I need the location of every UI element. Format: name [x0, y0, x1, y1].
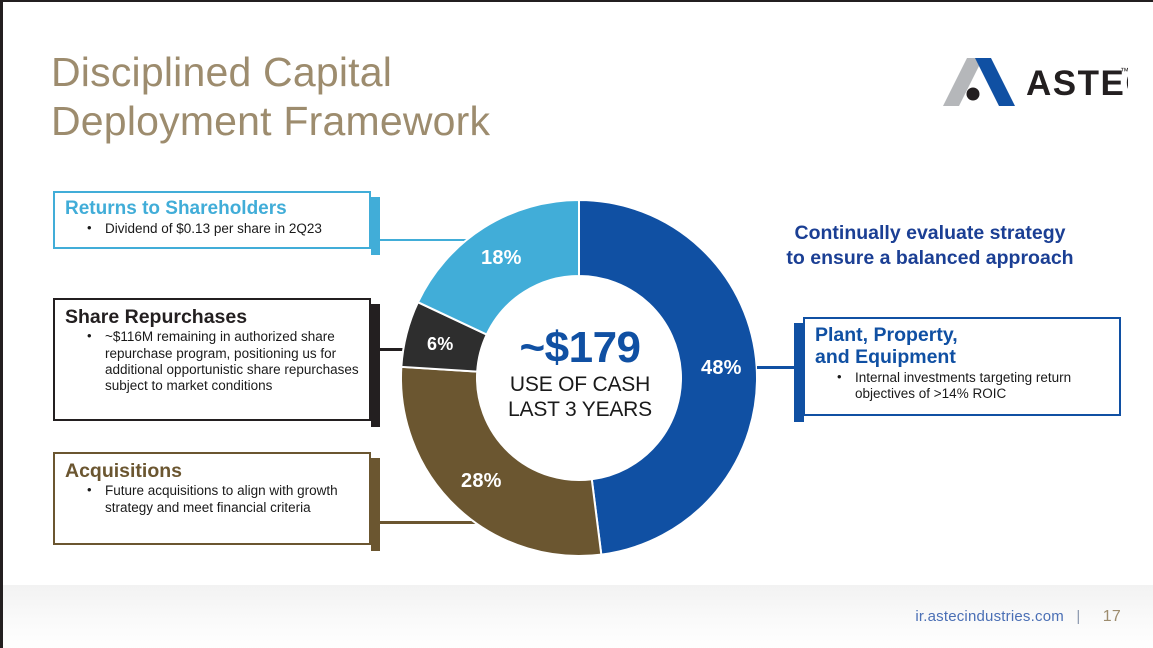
callout-title-returns: Returns to Shareholders	[65, 199, 361, 220]
callout-bullet-list-acquisitions: Future acquisitions to align with growth…	[65, 483, 361, 516]
astec-logo: ASTEC ™	[923, 54, 1128, 110]
chart-label-repurchases: 6%	[427, 334, 453, 355]
footer: ir.astecindustries.com | 17	[915, 608, 1121, 626]
chart-center-line-1: USE OF CASH	[495, 372, 665, 397]
right-heading-line-2: to ensure a balanced approach	[760, 246, 1100, 271]
list-item: ~$116M remaining in authorized share rep…	[87, 329, 361, 395]
right-heading: Continually evaluate strategy to ensure …	[760, 221, 1100, 271]
list-item: Internal investments targeting return ob…	[837, 370, 1111, 403]
chart-center-amount: ~$179	[495, 324, 665, 372]
callout-title-repurchases: Share Repurchases	[65, 307, 361, 328]
presentation-slide: Disciplined Capital Deployment Framework…	[0, 0, 1153, 648]
callout-bullet-list-repurchases: ~$116M remaining in authorized share rep…	[65, 329, 361, 395]
page-number: 17	[1103, 608, 1121, 625]
callout-bullet-list-ppe: Internal investments targeting return ob…	[815, 370, 1111, 403]
chart-label-ppe: 48%	[701, 357, 742, 380]
callout-shadow-acquisitions	[371, 458, 380, 551]
callout-returns-to-shareholders[interactable]: Returns to Shareholders Dividend of $0.1…	[53, 191, 371, 249]
footer-separator: |	[1076, 608, 1080, 625]
callout-acquisitions[interactable]: Acquisitions Future acquisitions to alig…	[53, 452, 371, 545]
callout-bullet-list-returns: Dividend of $0.13 per share in 2Q23	[65, 221, 361, 237]
footer-url[interactable]: ir.astecindustries.com	[915, 608, 1064, 625]
page-title-line-1: Disciplined Capital	[51, 48, 691, 97]
svg-text:™: ™	[1120, 66, 1128, 76]
callout-shadow-returns	[371, 197, 380, 255]
callout-plant-property-equipment[interactable]: Plant, Property, and Equipment Internal …	[803, 317, 1121, 416]
svg-text:ASTEC: ASTEC	[1026, 64, 1128, 103]
chart-label-returns: 18%	[481, 247, 522, 270]
chart-center-line-2: LAST 3 YEARS	[495, 397, 665, 422]
chart-label-acquisitions: 28%	[461, 470, 502, 493]
page-title: Disciplined Capital Deployment Framework	[51, 48, 691, 146]
list-item: Dividend of $0.13 per share in 2Q23	[87, 221, 361, 237]
page-title-line-2: Deployment Framework	[51, 97, 691, 146]
list-item: Future acquisitions to align with growth…	[87, 483, 361, 516]
callout-title-ppe-line-2: and Equipment	[815, 346, 956, 368]
chart-center-label: ~$179 USE OF CASH LAST 3 YEARS	[495, 324, 665, 422]
right-heading-line-1: Continually evaluate strategy	[760, 221, 1100, 246]
callout-title-ppe: Plant, Property, and Equipment	[815, 325, 1111, 369]
callout-share-repurchases[interactable]: Share Repurchases ~$116M remaining in au…	[53, 298, 371, 421]
callout-shadow-repurchases	[371, 304, 380, 427]
callout-title-acquisitions: Acquisitions	[65, 461, 361, 482]
callout-title-ppe-line-1: Plant, Property,	[815, 324, 958, 346]
